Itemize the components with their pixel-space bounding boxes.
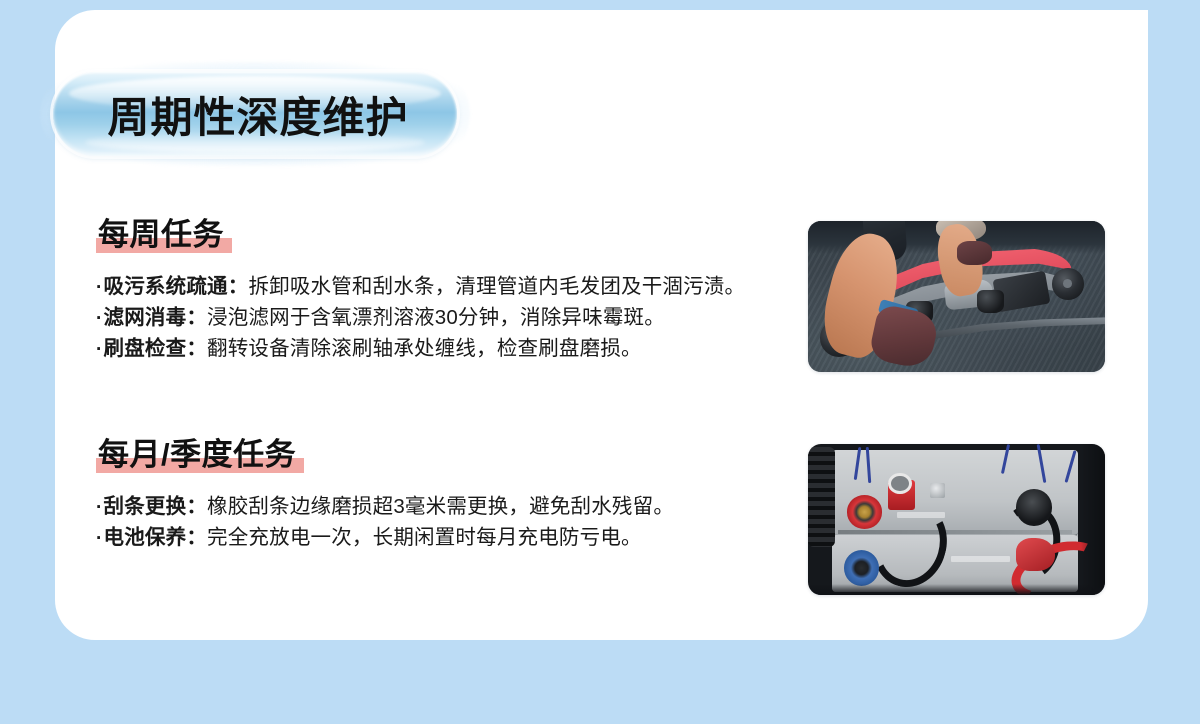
bullet-body: 完全充放电一次，长期闲置时每月充电防亏电。 bbox=[207, 526, 642, 549]
section-monthly-heading: 每月/季度任务 bbox=[96, 438, 300, 474]
terminal-screw bbox=[930, 483, 945, 498]
section-weekly-heading-text: 每周任务 bbox=[98, 217, 224, 252]
section-weekly-heading: 每周任务 bbox=[96, 218, 228, 254]
bullet-dot-icon: · bbox=[96, 277, 103, 298]
section-monthly-heading-text: 每月/季度任务 bbox=[98, 437, 296, 472]
list-item: ·滤网消毒：浸泡滤网于含氧漂剂溶液30分钟，消除异味霉斑。 bbox=[96, 303, 745, 334]
page-title: 周期性深度维护 bbox=[40, 62, 470, 166]
section-monthly-bullet-list: ·刮条更换：橡胶刮条边缘磨损超3毫米需更换，避免刮水残留。 ·电池保养：完全充放… bbox=[96, 492, 674, 554]
bullet-label: 吸污系统疏通： bbox=[104, 275, 249, 298]
section-monthly: 每月/季度任务 ·刮条更换：橡胶刮条边缘磨损超3毫米需更换，避免刮水残留。 ·电… bbox=[96, 438, 674, 570]
bullet-dot-icon: · bbox=[96, 528, 103, 549]
photo-battery-canvas bbox=[808, 444, 1105, 595]
bullet-dot-icon: · bbox=[96, 308, 103, 329]
squeegee-knob bbox=[977, 290, 1004, 313]
photo-battery-terminals bbox=[808, 444, 1105, 595]
bullet-label: 刷盘检查： bbox=[104, 337, 208, 360]
bullet-body: 浸泡滤网于含氧漂剂溶液30分钟，消除异味霉斑。 bbox=[207, 306, 665, 329]
ring-connector bbox=[888, 473, 912, 494]
squeegee-wheel bbox=[1052, 268, 1085, 300]
bullet-label: 滤网消毒： bbox=[104, 306, 208, 329]
black-terminal-boot bbox=[1016, 489, 1052, 525]
list-item: ·电池保养：完全充放电一次，长期闲置时每月充电防亏电。 bbox=[96, 523, 674, 554]
list-item: ·吸污系统疏通：拆卸吸水管和刮水条，清理管道内毛发团及干涸污渍。 bbox=[96, 272, 745, 303]
negative-terminal bbox=[844, 550, 880, 586]
bullet-body: 拆卸吸水管和刮水条，清理管道内毛发团及干涸污渍。 bbox=[248, 275, 745, 298]
worker-right-glove bbox=[957, 241, 993, 265]
positive-terminal bbox=[847, 495, 883, 528]
section-weekly: 每周任务 ·吸污系统疏通：拆卸吸水管和刮水条，清理管道内毛发团及干涸污渍。 ·滤… bbox=[96, 218, 745, 381]
bullet-body: 翻转设备清除滚刷轴承处缠线，检查刷盘磨损。 bbox=[207, 337, 642, 360]
list-item: ·刮条更换：橡胶刮条边缘磨损超3毫米需更换，避免刮水残留。 bbox=[96, 492, 674, 523]
bullet-body: 橡胶刮条边缘磨损超3毫米需更换，避免刮水残留。 bbox=[207, 495, 674, 518]
section-weekly-bullet-list: ·吸污系统疏通：拆卸吸水管和刮水条，清理管道内毛发团及干涸污渍。 ·滤网消毒：浸… bbox=[96, 272, 745, 365]
bullet-label: 刮条更换： bbox=[104, 495, 208, 518]
bullet-dot-icon: · bbox=[96, 497, 103, 518]
photo-squeegee-maintenance bbox=[808, 221, 1105, 372]
wheel-hub bbox=[1063, 279, 1072, 288]
vignette-right bbox=[1081, 444, 1105, 595]
list-item: ·刷盘检查：翻转设备清除滚刷轴承处缠线，检查刷盘磨损。 bbox=[96, 334, 745, 365]
bullet-dot-icon: · bbox=[96, 339, 103, 360]
title-badge: 周期性深度维护 bbox=[40, 62, 470, 166]
corrugated-hose bbox=[808, 447, 835, 547]
photo-squeegee-canvas bbox=[808, 221, 1105, 372]
red-terminal-boot bbox=[1016, 538, 1055, 571]
vignette-bottom bbox=[808, 584, 1105, 595]
bullet-label: 电池保养： bbox=[104, 526, 208, 549]
